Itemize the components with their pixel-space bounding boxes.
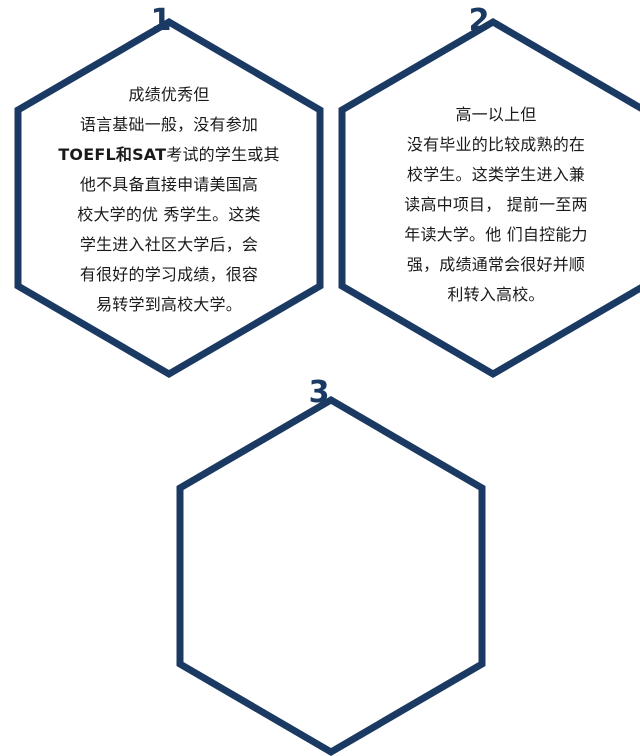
hexagon-outline-3	[176, 396, 486, 756]
hexagon-text-1: 成绩优秀但语言基础一般，没有参加TOEFL和SAT考试的学生或其他不具备直接申请…	[32, 80, 306, 320]
hexagon-card-2: 高一以上但没有毕业的比较成熟的在校学生。这类学生进入兼读高中项目， 提前一至两年…	[338, 18, 640, 378]
hexagon-text-line: 学生进入社区大学后，会	[32, 230, 306, 260]
hexagon-text-line: 语言基础一般，没有参加	[32, 110, 306, 140]
hexagon-text-line: 易转学到高校大学。	[32, 290, 306, 320]
hexagon-text-line: 年读大学。他 们自控能力	[362, 220, 630, 250]
hexagon-text-line: 成绩优秀但	[32, 80, 306, 110]
hexagon-text-line: 有很好的学习成绩，很容	[32, 260, 306, 290]
hexagon-card-1: 成绩优秀但语言基础一般，没有参加TOEFL和SAT考试的学生或其他不具备直接申请…	[14, 18, 324, 378]
hexagon-text-line: 读高中项目， 提前一至两	[362, 190, 630, 220]
hexagon-text-line: 校学生。这类学生进入兼	[362, 160, 630, 190]
hexagon-text-line: 他不具备直接申请美国高	[32, 170, 306, 200]
hexagon-number-2: 2	[456, 6, 502, 36]
hexagon-text-line: 强，成绩通常会很好并顺	[362, 250, 630, 280]
hexagon-text-line: 校大学的优 秀学生。这类	[32, 200, 306, 230]
hexagon-text-2: 高一以上但没有毕业的比较成熟的在校学生。这类学生进入兼读高中项目， 提前一至两年…	[362, 100, 630, 310]
hexagon-number-3: 3	[296, 378, 342, 408]
hexagon-number-1: 1	[138, 6, 184, 36]
hexagon-text-line: 高一以上但	[362, 100, 630, 130]
hexagon-text-line: TOEFL和SAT考试的学生或其	[32, 140, 306, 170]
hexagon-card-3	[176, 396, 486, 756]
hexagon-text-line: 没有毕业的比较成熟的在	[362, 130, 630, 160]
hexagon-text-line: 利转入高校。	[362, 280, 630, 310]
infographic-canvas: 成绩优秀但语言基础一般，没有参加TOEFL和SAT考试的学生或其他不具备直接申请…	[0, 0, 640, 440]
